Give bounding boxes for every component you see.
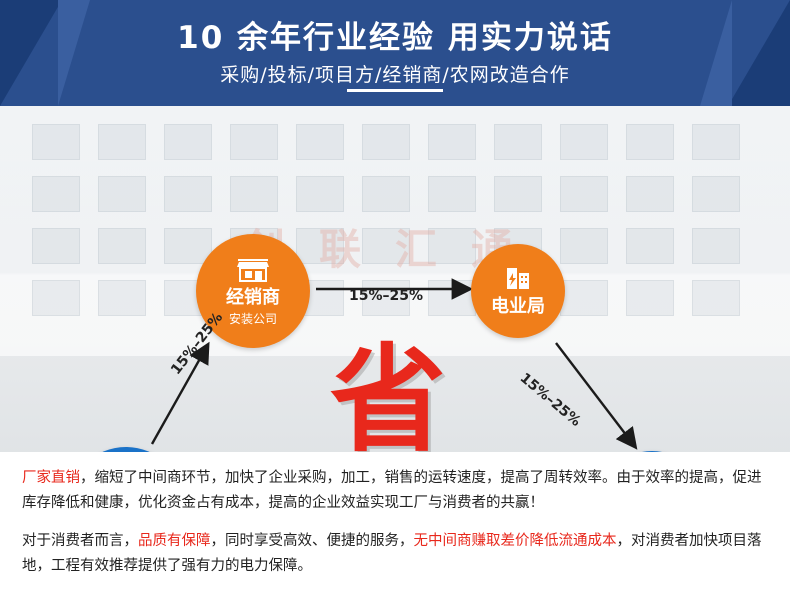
header-subtitle: 采购/投标/项目方/经销商/农网改造合作: [0, 60, 790, 87]
center-save-character: 省: [330, 343, 446, 452]
page-header: 10 余年行业经验 用实力说话 采购/投标/项目方/经销商/农网改造合作: [0, 0, 790, 106]
page-root: 10 余年行业经验 用实力说话 采购/投标/项目方/经销商/农网改造合作 创联汇…: [0, 0, 790, 601]
header-underline: [347, 89, 443, 92]
paragraph-1: 厂家直销，缩短了中间商环节，加快了企业采购，加工，销售的运转速度，提高了周转效率…: [22, 466, 768, 517]
paragraph-2-highlight-1: 品质有保障: [138, 533, 211, 549]
paragraph-2-highlight-2: 无中间商赚取差价降低流通成本: [414, 533, 617, 549]
page-title: 10 余年行业经验 用实力说话: [0, 12, 790, 57]
building-icon: [504, 264, 532, 295]
node-power-bureau-title: 电业局: [491, 297, 545, 318]
paragraph-2: 对于消费者而言，品质有保障，同时享受高效、便捷的服务，无中间商赚取差价降低流通成…: [22, 529, 768, 580]
edge-label-dealer-to-power: 15%–25%: [349, 288, 423, 304]
description-block: 厂家直销，缩短了中间商环节，加快了企业采购，加工，销售的运转速度，提高了周转效率…: [0, 452, 790, 601]
paragraph-1-highlight: 厂家直销: [22, 470, 80, 486]
paragraph-2-body-1: 对于消费者而言，: [22, 533, 138, 549]
paragraph-2-body-2: ，同时享受高效、便捷的服务，: [211, 533, 414, 549]
node-dealer-subtitle: 安装公司: [229, 310, 277, 327]
node-power-bureau[interactable]: 电业局: [471, 244, 565, 338]
node-dealer-title: 经销商: [226, 288, 280, 309]
flow-diagram: 创联汇通: [0, 106, 790, 452]
shop-icon: [236, 255, 270, 286]
paragraph-1-body: ，缩短了中间商环节，加快了企业采购，加工，销售的运转速度，提高了周转效率。由于效…: [22, 470, 762, 511]
